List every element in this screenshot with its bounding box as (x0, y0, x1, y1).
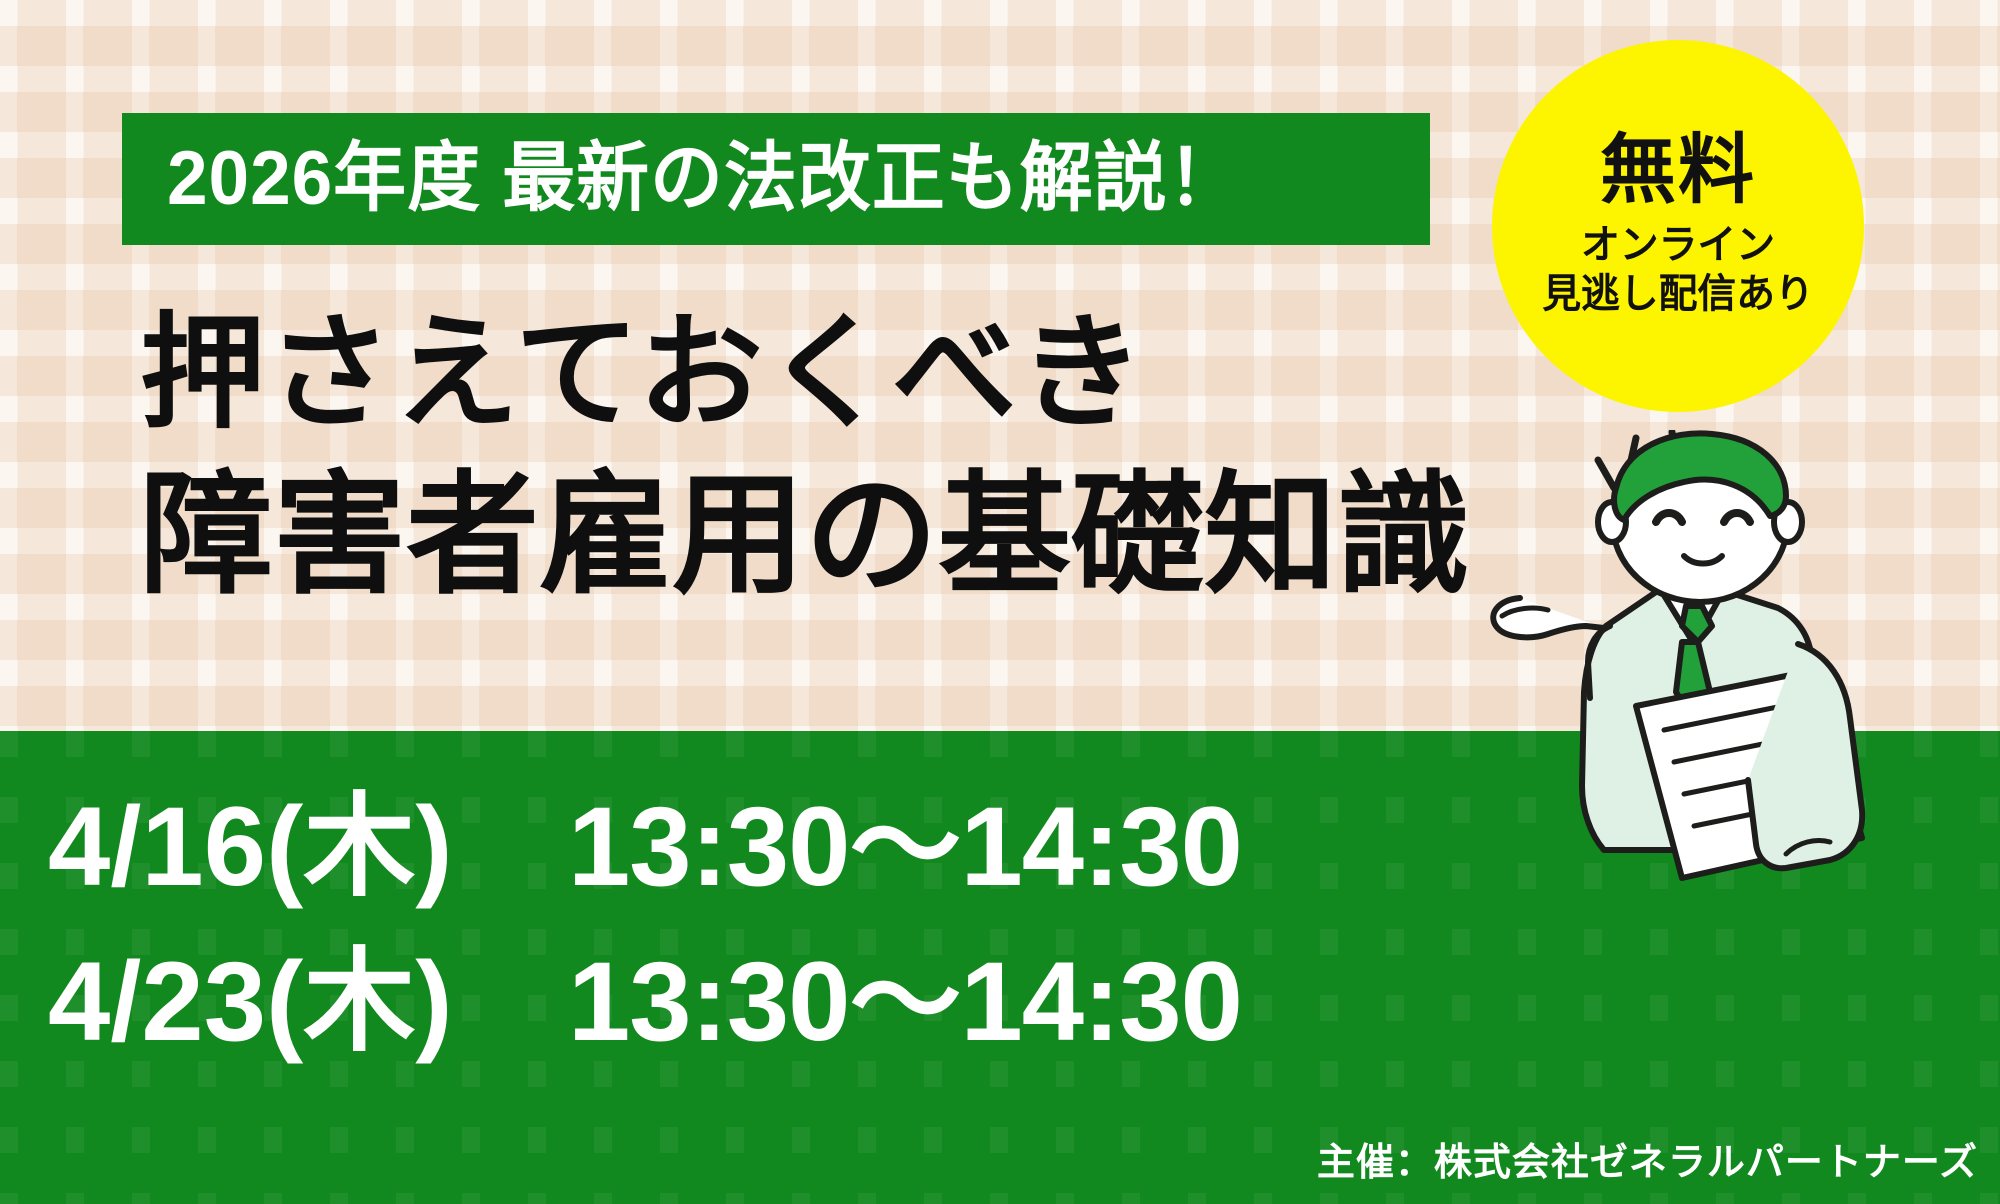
catch-copy-ribbon: 2026年度 最新の法改正も解説！ (122, 113, 1430, 245)
schedule-row: 4/23(木) 13:30〜14:30 (48, 925, 1648, 1080)
title-line-1: 押さえておくべき (140, 300, 1580, 448)
free-badge-subtitle-archive: 見逃し配信あり (1542, 270, 1814, 319)
hand-left (1493, 598, 1604, 637)
schedule-list: 4/16(木) 13:30〜14:30 4/23(木) 13:30〜14:30 (48, 770, 1648, 1079)
schedule-row: 4/16(木) 13:30〜14:30 (48, 770, 1648, 925)
schedule-time: 13:30〜14:30 (568, 770, 1242, 925)
seminar-banner: 2026年度 最新の法改正も解説！ 無料 オンライン 見逃し配信あり 押さえてお… (0, 0, 2000, 1204)
free-badge-subtitle-online: オンライン (1581, 221, 1775, 270)
title-line-2: 障害者雇用の基礎知識 (140, 458, 1580, 615)
page-title: 押さえておくべき 障害者雇用の基礎知識 (140, 300, 1580, 614)
catch-copy-text: 2026年度 最新の法改正も解説！ (167, 141, 1241, 217)
presenter-character-illustration (1486, 430, 2000, 904)
free-badge-title: 無料 (1600, 133, 1756, 209)
presenter-character-svg (1486, 430, 2000, 904)
schedule-date: 4/16(木) (48, 770, 568, 925)
organizer-credit: 主催：株式会社ゼネラルパートナーズ (1317, 1131, 1978, 1186)
schedule-time: 13:30〜14:30 (568, 925, 1242, 1080)
schedule-date: 4/23(木) (48, 925, 568, 1080)
